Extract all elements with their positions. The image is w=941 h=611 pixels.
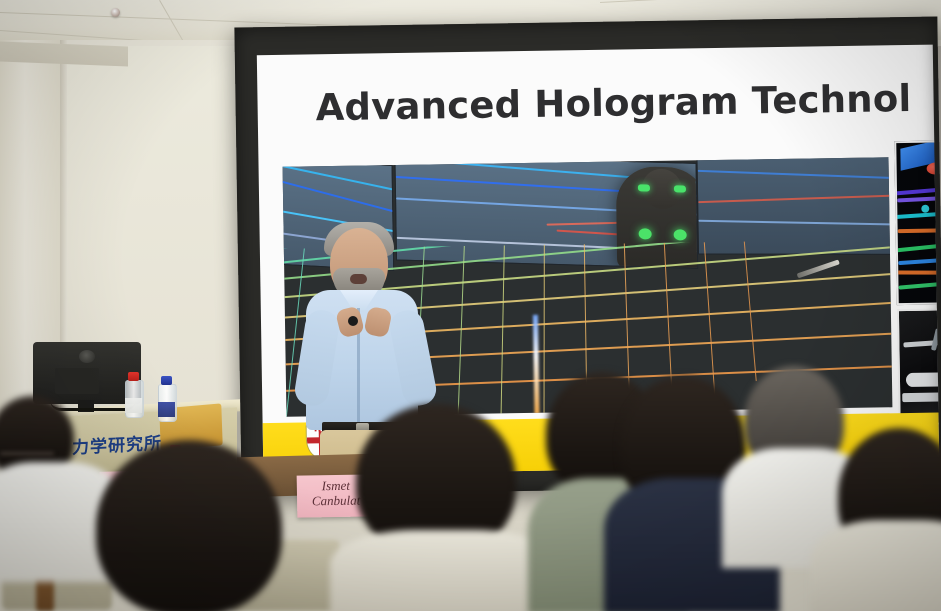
eyeglasses-icon (0, 452, 54, 455)
holo-marker-right-icon (674, 229, 687, 240)
slide-title: Advanced Hologram Technol (315, 77, 911, 129)
monitor-logo-icon (79, 350, 95, 363)
presentation-clicker-icon (348, 316, 358, 326)
monitor-rear-panel (55, 368, 99, 394)
audience-member (96, 440, 286, 611)
speaker-mouth (350, 274, 367, 284)
ar-glasses-lens-right-icon (674, 185, 686, 192)
slide-thumbnail-lab-photo (897, 308, 939, 425)
holo-marker-left-icon (639, 228, 652, 239)
sprinkler-icon (111, 8, 120, 17)
red-marker-icon (927, 162, 940, 174)
water-bottle (125, 372, 142, 418)
slide-thumbnail-pointcloud (894, 140, 939, 305)
ar-glasses-lens-left-icon (638, 184, 650, 191)
audience-member-shoulders (810, 520, 941, 611)
water-bottle (158, 376, 175, 422)
audience-member-shoulders (330, 530, 560, 611)
lecture-room-photo: Advanced Hologram Technol (0, 0, 941, 611)
holo-light-beam (533, 315, 540, 417)
